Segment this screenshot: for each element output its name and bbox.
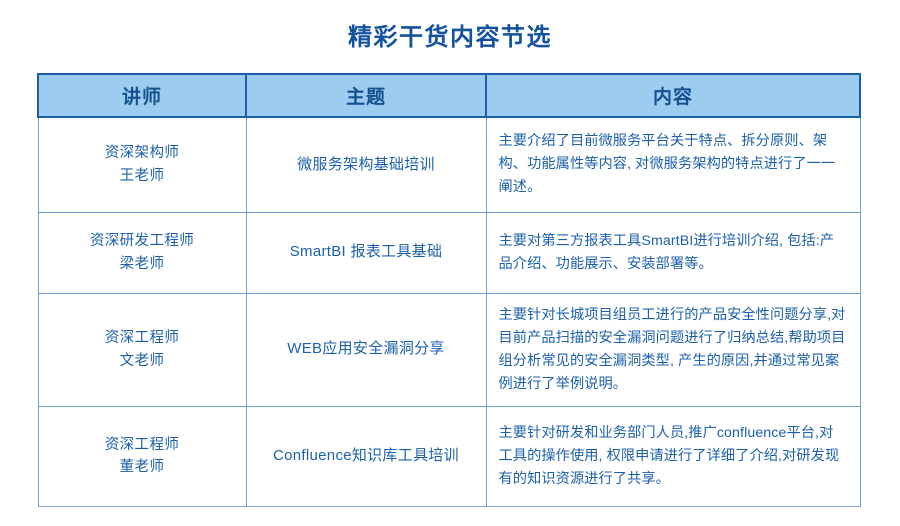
teacher-name: 梁老师 (49, 253, 236, 275)
teacher-name: 董老师 (49, 456, 236, 478)
teacher-title: 资深工程师 (49, 434, 236, 456)
cell-content: 主要对第三方报表工具SmartBI进行培训介绍, 包括:产品介绍、功能展示、安装… (486, 212, 860, 293)
teacher-title: 资深架构师 (49, 142, 236, 164)
slide-page: 精彩干货内容节选 讲师 主题 内容 资深架构师 王老师 (0, 0, 900, 526)
column-header-teacher: 讲师 (38, 74, 246, 117)
cell-teacher: 资深工程师 文老师 (38, 293, 246, 406)
column-header-topic: 主题 (246, 74, 486, 117)
teacher-name: 文老师 (49, 350, 236, 372)
page-title: 精彩干货内容节选 (0, 24, 900, 53)
teacher-name: 王老师 (49, 165, 236, 187)
table-row: 资深研发工程师 梁老师 SmartBI 报表工具基础 主要对第三方报表工具Sma… (38, 212, 860, 293)
teacher-title: 资深研发工程师 (49, 230, 236, 252)
cell-content: 主要介绍了目前微服务平台关于特点、拆分原则、架构、功能属性等内容, 对微服务架构… (486, 117, 860, 212)
content-table-container: 讲师 主题 内容 资深架构师 王老师 微服务架构基础培训 主要介绍了目前微服务平… (37, 73, 859, 507)
cell-content: 主要针对长城项目组员工进行的产品安全性问题分享,对目前产品扫描的安全漏洞问题进行… (486, 293, 860, 406)
table-body: 资深架构师 王老师 微服务架构基础培训 主要介绍了目前微服务平台关于特点、拆分原… (38, 117, 860, 506)
cell-content: 主要针对研发和业务部门人员,推广confluence平台,对工具的操作使用, 权… (486, 406, 860, 506)
cell-topic: SmartBI 报表工具基础 (246, 212, 486, 293)
table-row: 资深工程师 董老师 Confluence知识库工具培训 主要针对研发和业务部门人… (38, 406, 860, 506)
cell-topic: 微服务架构基础培训 (246, 117, 486, 212)
table-row: 资深工程师 文老师 WEB应用安全漏洞分享 主要针对长城项目组员工进行的产品安全… (38, 293, 860, 406)
table-header-row: 讲师 主题 内容 (38, 74, 860, 117)
cell-topic: Confluence知识库工具培训 (246, 406, 486, 506)
table-header: 讲师 主题 内容 (38, 74, 860, 117)
cell-teacher: 资深研发工程师 梁老师 (38, 212, 246, 293)
table-row: 资深架构师 王老师 微服务架构基础培训 主要介绍了目前微服务平台关于特点、拆分原… (38, 117, 860, 212)
column-header-content: 内容 (486, 74, 860, 117)
teacher-title: 资深工程师 (49, 327, 236, 349)
cell-teacher: 资深架构师 王老师 (38, 117, 246, 212)
cell-teacher: 资深工程师 董老师 (38, 406, 246, 506)
cell-topic: WEB应用安全漏洞分享 (246, 293, 486, 406)
content-table: 讲师 主题 内容 资深架构师 王老师 微服务架构基础培训 主要介绍了目前微服务平… (37, 73, 861, 507)
